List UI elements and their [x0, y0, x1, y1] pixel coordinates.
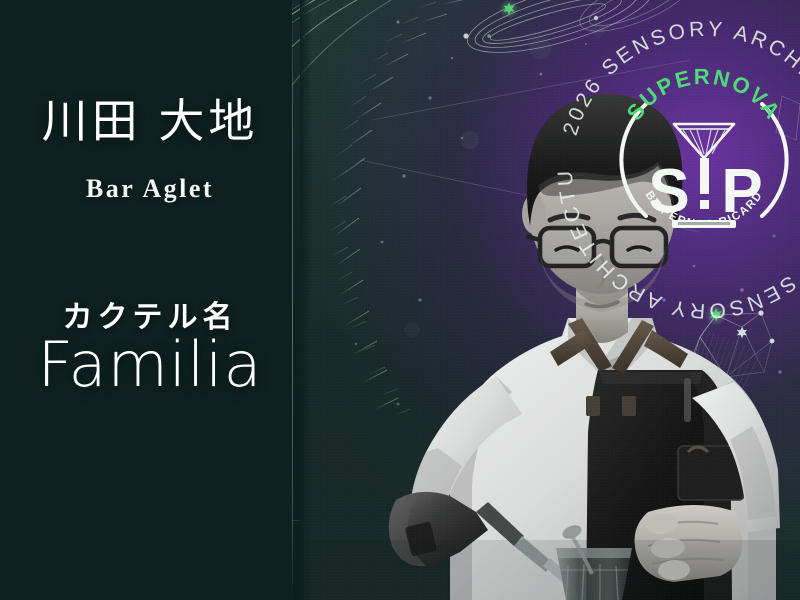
bartender-name: 川田 大地 — [0, 98, 300, 144]
sip-monogram: S P — [648, 157, 762, 228]
profile-text-column: 川田 大地 Bar Aglet カクテル名 Familia — [0, 0, 300, 600]
monogram-p: P — [721, 157, 762, 226]
sip-supernova-badge[interactable]: SUPERNOVA BY PERNOD RICARD S P — [606, 62, 800, 258]
badge-supernova-text: SUPERNOVA — [622, 64, 787, 125]
martini-glass-icon — [674, 124, 734, 158]
bar-name: Bar Aglet — [0, 174, 300, 204]
competition-profile-card: 川田 大地 Bar Aglet カクテル名 Familia 2026 SENSO… — [0, 0, 800, 600]
cocktail-name: Familia — [0, 332, 300, 397]
monogram-s: S — [648, 157, 689, 226]
